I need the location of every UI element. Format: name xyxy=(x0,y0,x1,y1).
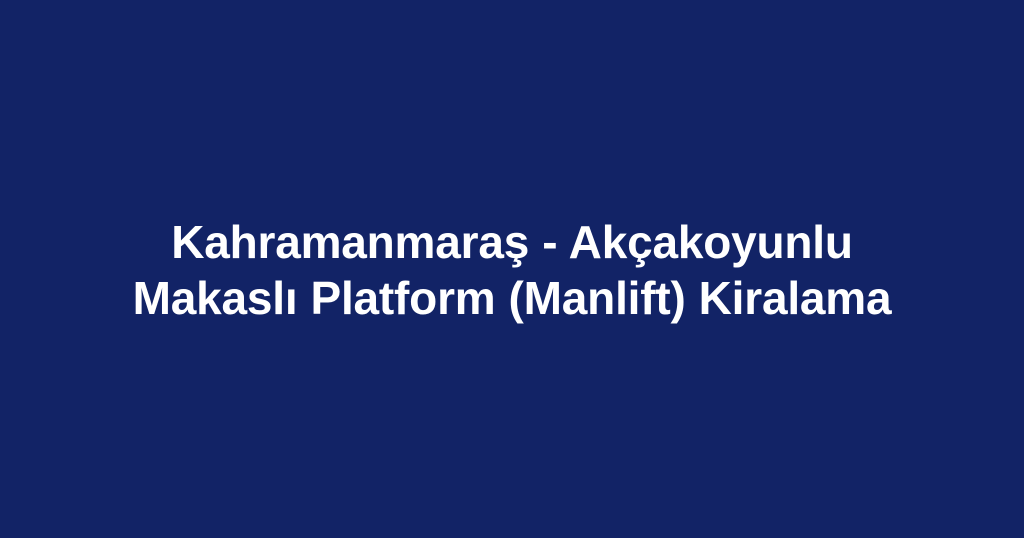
page-title-line-1: Kahramanmaraş - Akçakoyunlu xyxy=(24,214,1000,270)
page-title: Kahramanmaraş - Akçakoyunlu Makaslı Plat… xyxy=(24,214,1000,326)
og-preview-card: Kahramanmaraş - Akçakoyunlu Makaslı Plat… xyxy=(0,0,1024,538)
headline-block: Kahramanmaraş - Akçakoyunlu Makaslı Plat… xyxy=(0,214,1024,326)
page-title-line-2: Makaslı Platform (Manlift) Kiralama xyxy=(24,270,1000,326)
